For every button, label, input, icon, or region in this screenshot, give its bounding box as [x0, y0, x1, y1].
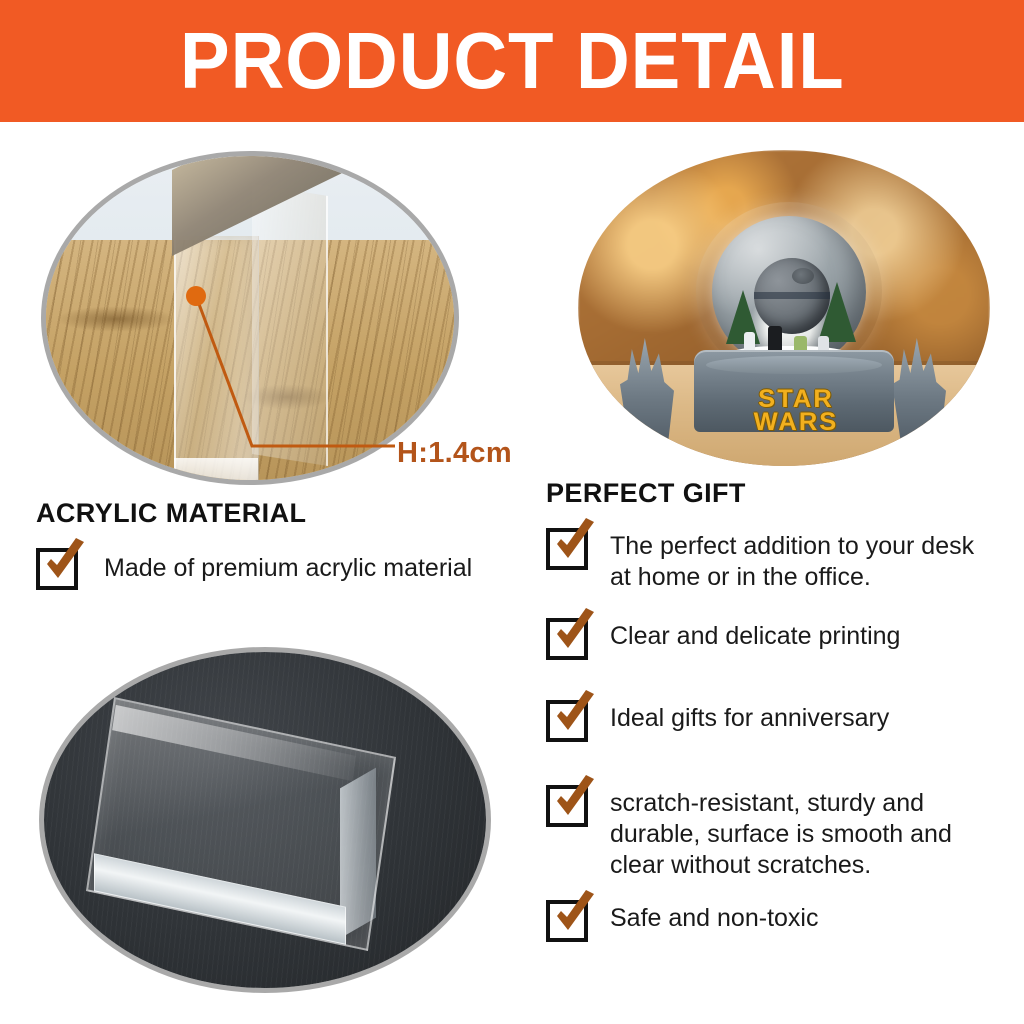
list-item-label: Clear and delicate printing: [610, 618, 900, 652]
list-item-label: The perfect addition to your desk at hom…: [610, 528, 996, 593]
acrylic-block-right-face: [252, 184, 328, 466]
list-item-label: Safe and non-toxic: [610, 900, 818, 934]
acrylic-block-photo: [44, 652, 486, 988]
product-detail-page: PRODUCT DETAIL H:1.4cm: [0, 0, 1024, 1024]
checkbox-checked-icon: [546, 618, 588, 660]
dimension-anchor-dot: [186, 286, 206, 306]
star-wars-logo-line-2: WARS: [710, 411, 881, 434]
death-star-equator-band: [754, 292, 830, 299]
checkmark-icon: [548, 518, 600, 570]
checkmark-icon: [548, 690, 600, 742]
star-wars-logo: STAR WARS: [710, 388, 881, 434]
base-top-ring: [706, 356, 882, 374]
dimension-label: H:1.4cm: [397, 437, 512, 470]
checkbox-checked-icon: [546, 785, 588, 827]
checkmark-icon: [38, 538, 90, 590]
section-heading-perfect-gift: PERFECT GIFT: [546, 478, 746, 509]
list-item-label: scratch-resistant, sturdy and durable, s…: [610, 785, 1006, 881]
list-item: Made of premium acrylic material: [36, 548, 516, 590]
checkbox-checked-icon: [546, 700, 588, 742]
acrylic-block-base-edge: [174, 458, 258, 480]
list-item-label: Ideal gifts for anniversary: [610, 700, 889, 734]
list-item: Clear and delicate printing: [546, 618, 996, 660]
list-item-label: Made of premium acrylic material: [104, 548, 472, 584]
wood-knot: [56, 306, 176, 332]
snow-globe-photo: STAR WARS: [578, 150, 990, 466]
checkbox-checked-icon: [546, 528, 588, 570]
checkmark-icon: [548, 890, 600, 942]
section-heading-acrylic-material: ACRYLIC MATERIAL: [36, 498, 306, 529]
death-star-superlaser-dish: [792, 268, 814, 284]
checkmark-icon: [548, 775, 600, 827]
list-item: Ideal gifts for anniversary: [546, 700, 996, 742]
checkbox-checked-icon: [36, 548, 78, 590]
list-item: scratch-resistant, sturdy and durable, s…: [546, 785, 1006, 881]
checkbox-checked-icon: [546, 900, 588, 942]
list-item: Safe and non-toxic: [546, 900, 996, 942]
page-title: PRODUCT DETAIL: [180, 21, 845, 101]
acrylic-block-front-face: [174, 236, 259, 480]
list-item: The perfect addition to your desk at hom…: [546, 528, 996, 593]
page-header-banner: PRODUCT DETAIL: [0, 0, 1024, 122]
acrylic-edge-photo: [46, 156, 454, 480]
checkmark-icon: [548, 608, 600, 660]
